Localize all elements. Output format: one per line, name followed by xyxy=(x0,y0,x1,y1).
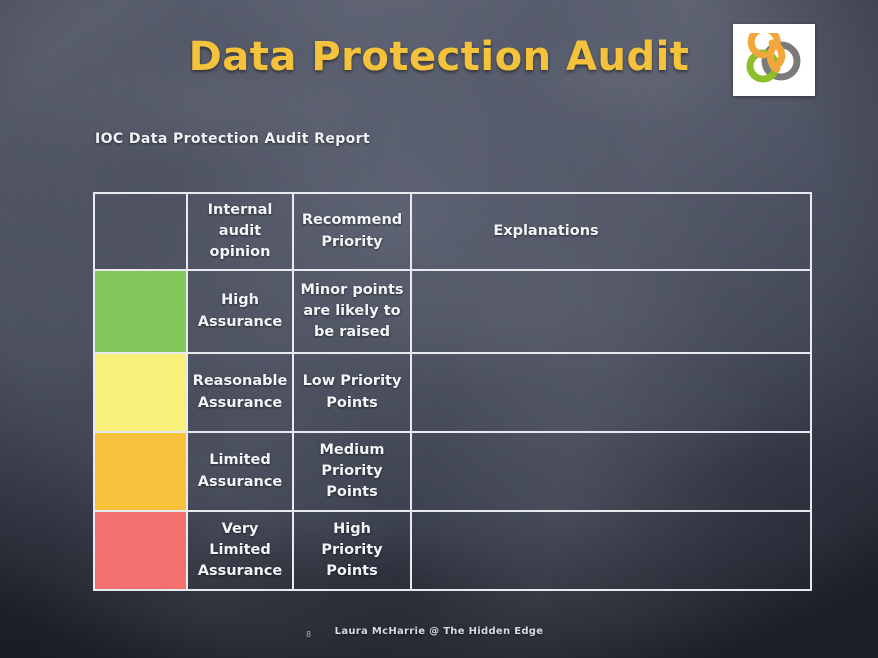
swatch-cell-red xyxy=(95,512,188,589)
table-header-row: Internal audit opinion Recommend Priorit… xyxy=(95,194,810,271)
explanation-cell-high-assurance xyxy=(412,271,810,352)
opinion-cell-very-limited-assurance: Very Limited Assurance xyxy=(188,512,294,589)
footer-credit: Laura McHarrie @ The Hidden Edge xyxy=(0,626,878,637)
header-cell-internal-audit-opinion: Internal audit opinion xyxy=(188,194,294,269)
color-swatch-green xyxy=(95,271,186,352)
swatch-cell-yellow xyxy=(95,354,188,431)
header-cell-recommend-priority: Recommend Priority xyxy=(294,194,412,269)
explanation-cell-very-limited-assurance xyxy=(412,512,810,589)
priority-cell-medium-priority: Medium Priority Points xyxy=(294,433,412,510)
table-row: Reasonable Assurance Low Priority Points xyxy=(95,354,810,433)
table-row: High Assurance Minor points are likely t… xyxy=(95,271,810,354)
table-row: Limited Assurance Medium Priority Points xyxy=(95,433,810,512)
header-cell-explanations: Explanations xyxy=(412,194,810,269)
priority-cell-high-priority: High Priority Points xyxy=(294,512,412,589)
color-swatch-amber xyxy=(95,433,186,510)
interlocking-rings-logo xyxy=(733,24,815,96)
explanation-cell-reasonable-assurance xyxy=(412,354,810,431)
opinion-cell-high-assurance: High Assurance xyxy=(188,271,294,352)
table-row: Very Limited Assurance High Priority Poi… xyxy=(95,512,810,589)
opinion-cell-limited-assurance: Limited Assurance xyxy=(188,433,294,510)
slide-canvas: Data Protection Audit IOC Data Protectio… xyxy=(0,0,878,658)
report-subtitle: IOC Data Protection Audit Report xyxy=(95,131,370,147)
priority-cell-low-priority: Low Priority Points xyxy=(294,354,412,431)
swatch-cell-green xyxy=(95,271,188,352)
rings-icon xyxy=(744,33,804,87)
opinion-cell-reasonable-assurance: Reasonable Assurance xyxy=(188,354,294,431)
priority-cell-minor-points: Minor points are likely to be raised xyxy=(294,271,412,352)
color-swatch-red xyxy=(95,512,186,589)
swatch-cell-amber xyxy=(95,433,188,510)
color-swatch-yellow xyxy=(95,354,186,431)
header-cell-swatch xyxy=(95,194,188,269)
explanation-cell-limited-assurance xyxy=(412,433,810,510)
audit-assurance-table: Internal audit opinion Recommend Priorit… xyxy=(93,192,812,591)
